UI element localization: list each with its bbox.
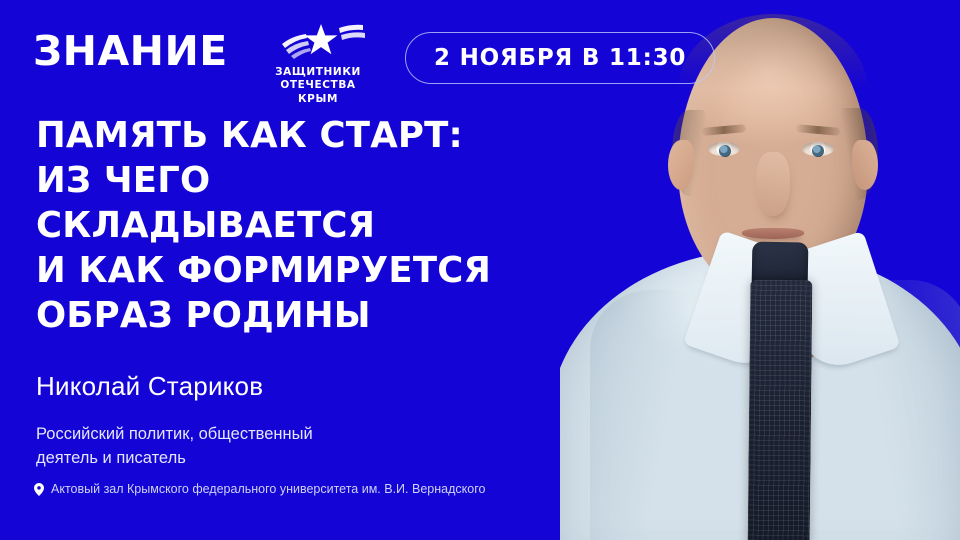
znanie-logo: ЗНАНИЕ xyxy=(33,31,228,72)
partner-logo: ЗАЩИТНИКИ ОТЕЧЕСТВА КРЫМ xyxy=(262,22,374,102)
partner-logo-line1: ЗАЩИТНИКИ xyxy=(262,66,374,79)
speaker-description-line-1: Российский политик, общественный xyxy=(36,422,456,446)
iris-right xyxy=(812,145,824,157)
star-ribbon-icon xyxy=(262,22,374,66)
tie-body xyxy=(748,280,813,540)
venue-text: Актовый зал Крымского федерального униве… xyxy=(51,483,485,496)
iris-left xyxy=(719,145,731,157)
page-title: ПАМЯТЬ КАК СТАРТ: ИЗ ЧЕГО СКЛАДЫВАЕТСЯ И… xyxy=(36,113,626,338)
speaker-description: Российский политик, общественный деятель… xyxy=(36,422,456,470)
mouth xyxy=(742,228,804,239)
venue: Актовый зал Крымского федерального униве… xyxy=(34,483,485,496)
ear-right xyxy=(852,140,878,190)
event-date-badge: 2 НОЯБРЯ В 11:30 xyxy=(405,32,715,84)
location-pin-icon xyxy=(34,483,44,496)
headline-line-4: И КАК ФОРМИРУЕТСЯ xyxy=(36,248,626,293)
headline-line-1: ПАМЯТЬ КАК СТАРТ: xyxy=(36,113,626,158)
ear-left xyxy=(668,140,694,190)
headline-line-3: СКЛАДЫВАЕТСЯ xyxy=(36,203,626,248)
partner-logo-text: ЗАЩИТНИКИ ОТЕЧЕСТВА КРЫМ xyxy=(262,66,374,106)
partner-logo-line2: ОТЕЧЕСТВА xyxy=(262,79,374,92)
event-announcement-banner: ЗНАНИЕ ЗАЩИТНИКИ ОТЕЧЕСТВА КРЫМ 2 НОЯБРЯ… xyxy=(0,0,960,540)
headline-line-2: ИЗ ЧЕГО xyxy=(36,158,626,203)
partner-logo-line3: КРЫМ xyxy=(262,93,374,106)
speaker-name: Николай Стариков xyxy=(36,371,263,402)
speaker-description-line-2: деятель и писатель xyxy=(36,446,456,470)
headline-line-5: ОБРАЗ РОДИНЫ xyxy=(36,293,626,338)
nose xyxy=(756,152,790,216)
